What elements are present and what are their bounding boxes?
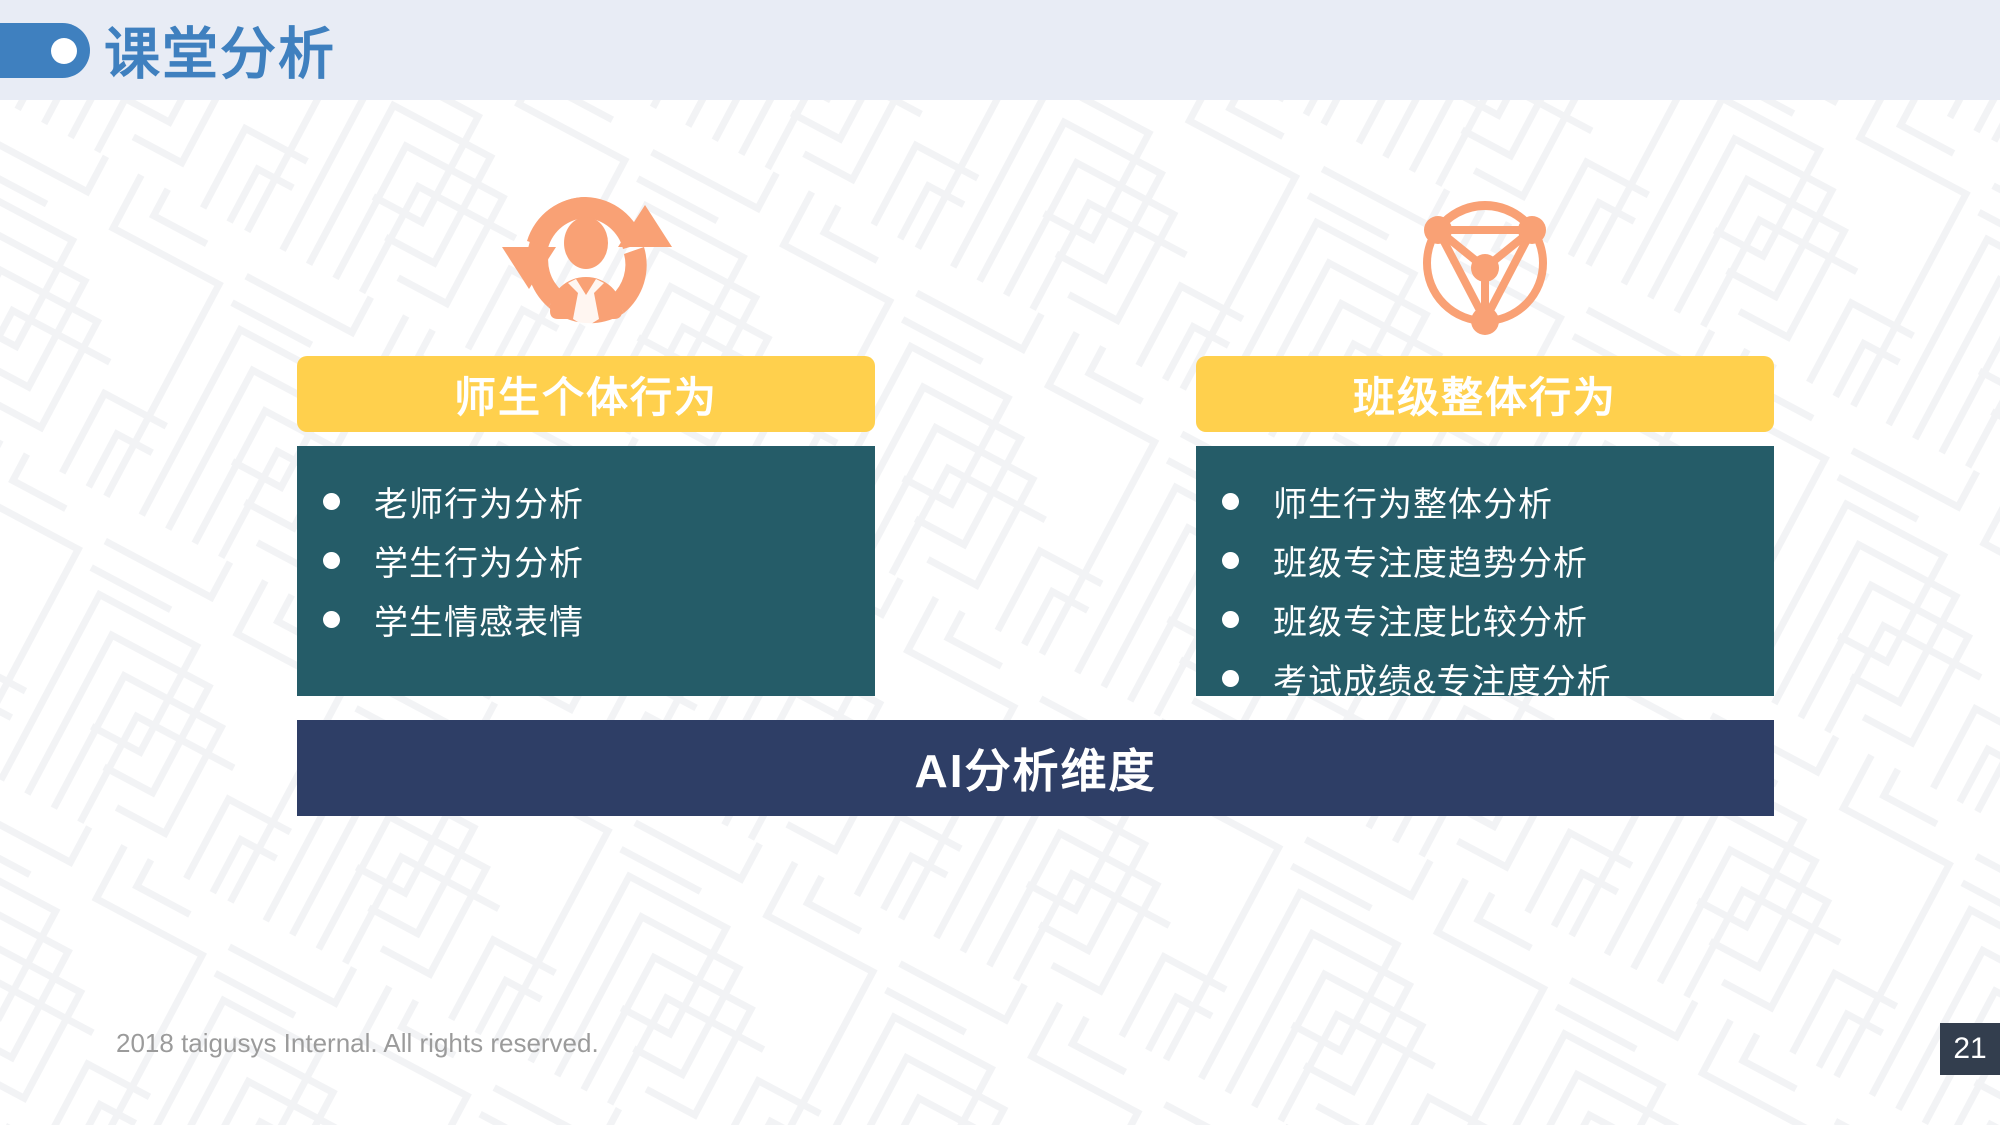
list-item-label: 班级专注度趋势分析 (1273, 536, 1588, 585)
bullet-icon (1222, 670, 1239, 687)
column-class-behavior: 班级整体行为 师生行为整体分析 班级专注度趋势分析 班级专注度比较分析 考试成绩… (1196, 180, 1774, 696)
list-item[interactable]: 班级专注度比较分析 (1196, 590, 1774, 649)
toggle-knob (51, 38, 77, 64)
list-item-label: 老师行为分析 (374, 477, 584, 526)
bullet-icon (1222, 552, 1239, 569)
card-title-class: 班级整体行为 (1196, 356, 1774, 432)
list-item[interactable]: 师生行为整体分析 (1196, 472, 1774, 531)
slide-root: 课堂分析 (0, 0, 2000, 1125)
list-item[interactable]: 班级专注度趋势分析 (1196, 531, 1774, 590)
people-cycle-icon (297, 180, 875, 340)
list-item[interactable]: 老师行为分析 (297, 472, 875, 531)
list-item-label: 师生行为整体分析 (1273, 477, 1553, 526)
card-body-class: 师生行为整体分析 班级专注度趋势分析 班级专注度比较分析 考试成绩&专注度分析 (1196, 446, 1774, 696)
card-body-individual: 老师行为分析 学生行为分析 学生情感表情 (297, 446, 875, 696)
list-item-label: 学生行为分析 (374, 536, 584, 585)
bottom-summary-bar: AI分析维度 (297, 720, 1774, 816)
network-graph-icon (1196, 180, 1774, 340)
page-title: 课堂分析 (104, 10, 336, 91)
card-title-individual: 师生个体行为 (297, 356, 875, 432)
page-number-badge: 21 (1940, 1023, 2000, 1075)
list-item[interactable]: 学生情感表情 (297, 590, 875, 649)
toggle-on-icon (0, 23, 90, 78)
bullet-icon (323, 493, 340, 510)
header-band: 课堂分析 (0, 0, 2000, 100)
list-item[interactable]: 考试成绩&专注度分析 (1196, 649, 1774, 708)
bullet-icon (1222, 611, 1239, 628)
bullet-icon (1222, 493, 1239, 510)
list-item[interactable]: 学生行为分析 (297, 531, 875, 590)
list-item-label: 班级专注度比较分析 (1273, 595, 1588, 644)
list-item-label: 学生情感表情 (374, 595, 584, 644)
bullet-icon (323, 552, 340, 569)
footer-copyright: 2018 taigusys Internal. All rights reser… (116, 1028, 599, 1059)
bottom-summary-label: AI分析维度 (915, 735, 1157, 801)
bullet-icon (323, 611, 340, 628)
column-individual-behavior: 师生个体行为 老师行为分析 学生行为分析 学生情感表情 (297, 180, 875, 696)
list-item-label: 考试成绩&专注度分析 (1273, 654, 1612, 703)
